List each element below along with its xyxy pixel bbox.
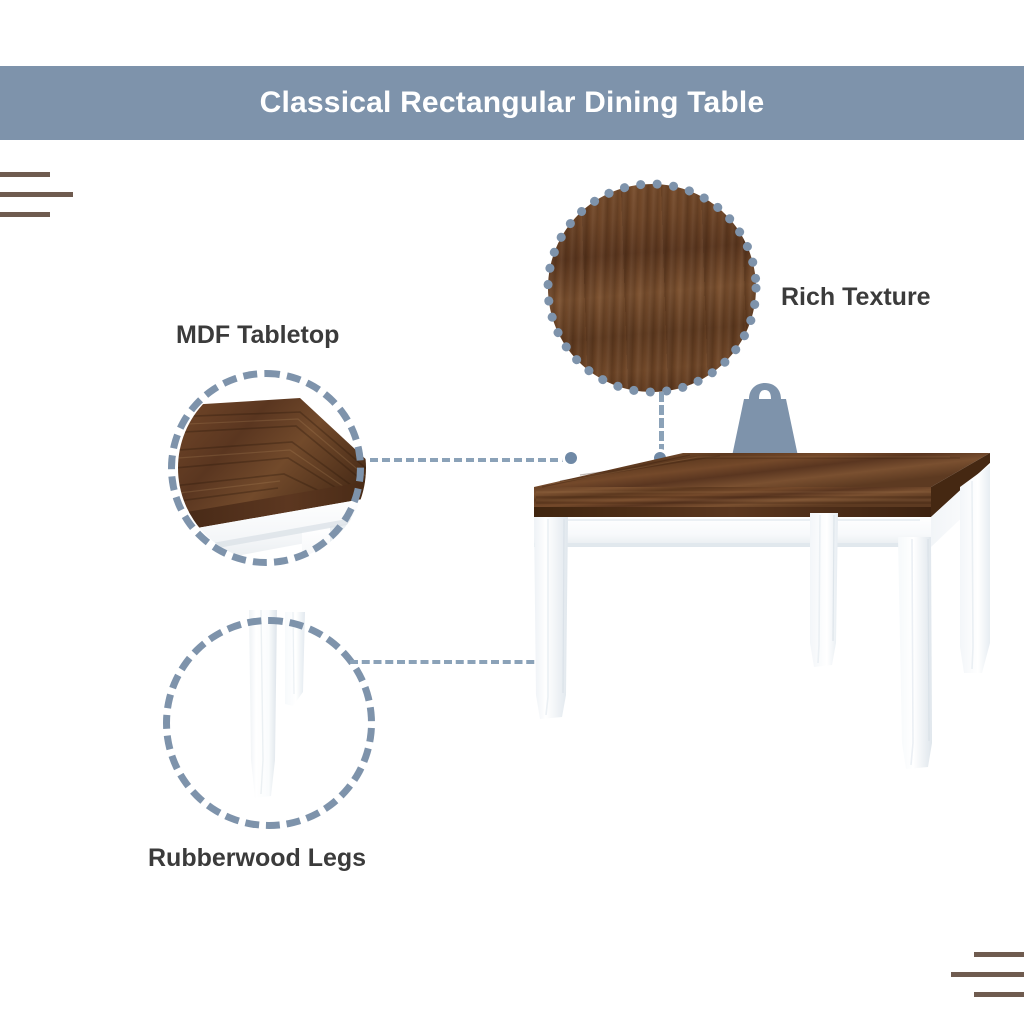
- mdf-tabletop-callout-circle: [168, 370, 364, 566]
- connector-mdf-to-tabletop: [370, 458, 570, 462]
- weight-badge-text: 250 lbs: [0, 21, 76, 63]
- deco-rule-bottom-2: [951, 972, 1024, 977]
- deco-rule-top-2: [0, 192, 73, 197]
- connector-legs-to-leg: [350, 660, 546, 664]
- weight-value: 250: [0, 21, 76, 42]
- weight-unit: lbs: [0, 42, 76, 63]
- rich-texture-swatch: [548, 184, 756, 392]
- rubberwood-legs-callout-circle: [163, 617, 375, 829]
- weight-icon: [727, 381, 803, 461]
- feature-label-rubberwood-legs: Rubberwood Legs: [148, 844, 366, 873]
- deco-rule-top-1: [0, 172, 50, 177]
- connector-dot-tabletop-edge: [562, 449, 580, 467]
- product-image-dining-table: [520, 425, 1010, 805]
- feature-label-mdf-tabletop: MDF Tabletop: [176, 321, 339, 350]
- deco-rule-bottom-1: [974, 952, 1024, 957]
- infographic-page: Classical Rectangular Dining Table Rich …: [0, 0, 1024, 1024]
- feature-label-rich-texture: Rich Texture: [781, 283, 931, 312]
- deco-rule-top-3: [0, 212, 50, 217]
- header-banner: Classical Rectangular Dining Table: [0, 66, 1024, 140]
- page-title: Classical Rectangular Dining Table: [260, 88, 765, 118]
- connector-dot-tabletop-surface: [651, 449, 669, 467]
- deco-rule-bottom-3: [974, 992, 1024, 997]
- connector-dot-front-left-leg: [537, 651, 555, 669]
- connector-texture-to-tabletop: [659, 392, 664, 454]
